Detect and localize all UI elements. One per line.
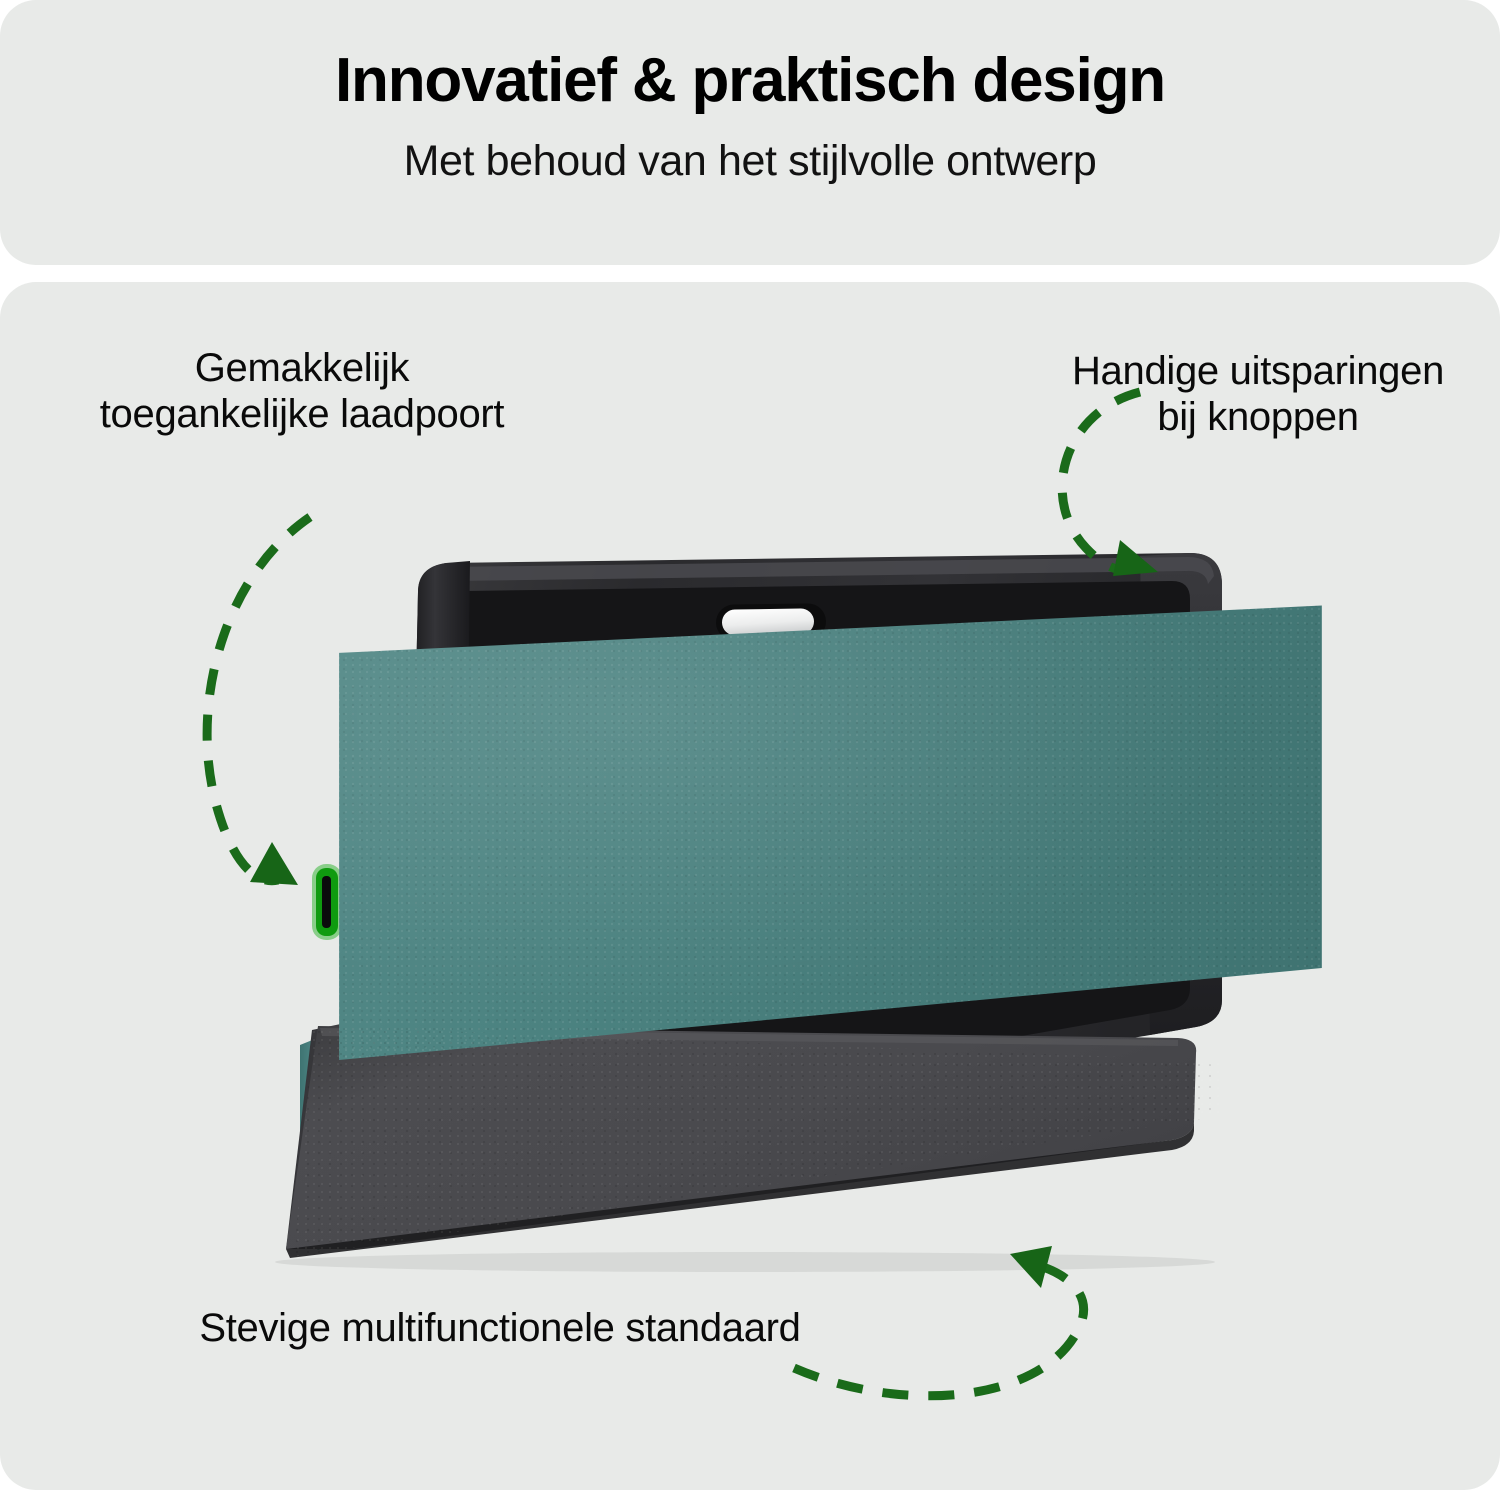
- product-shadow: [275, 1252, 1215, 1272]
- callout-kickstand: Stevige multifunctionele standaard: [160, 1305, 840, 1351]
- charging-port-opening: [322, 876, 331, 928]
- callout-button-cutouts: Handige uitsparingen bij knoppen: [1058, 348, 1458, 441]
- product-image: [0, 0, 1500, 1500]
- callout-charging-port: Gemakkelijk toegankelijke laadpoort: [92, 345, 512, 438]
